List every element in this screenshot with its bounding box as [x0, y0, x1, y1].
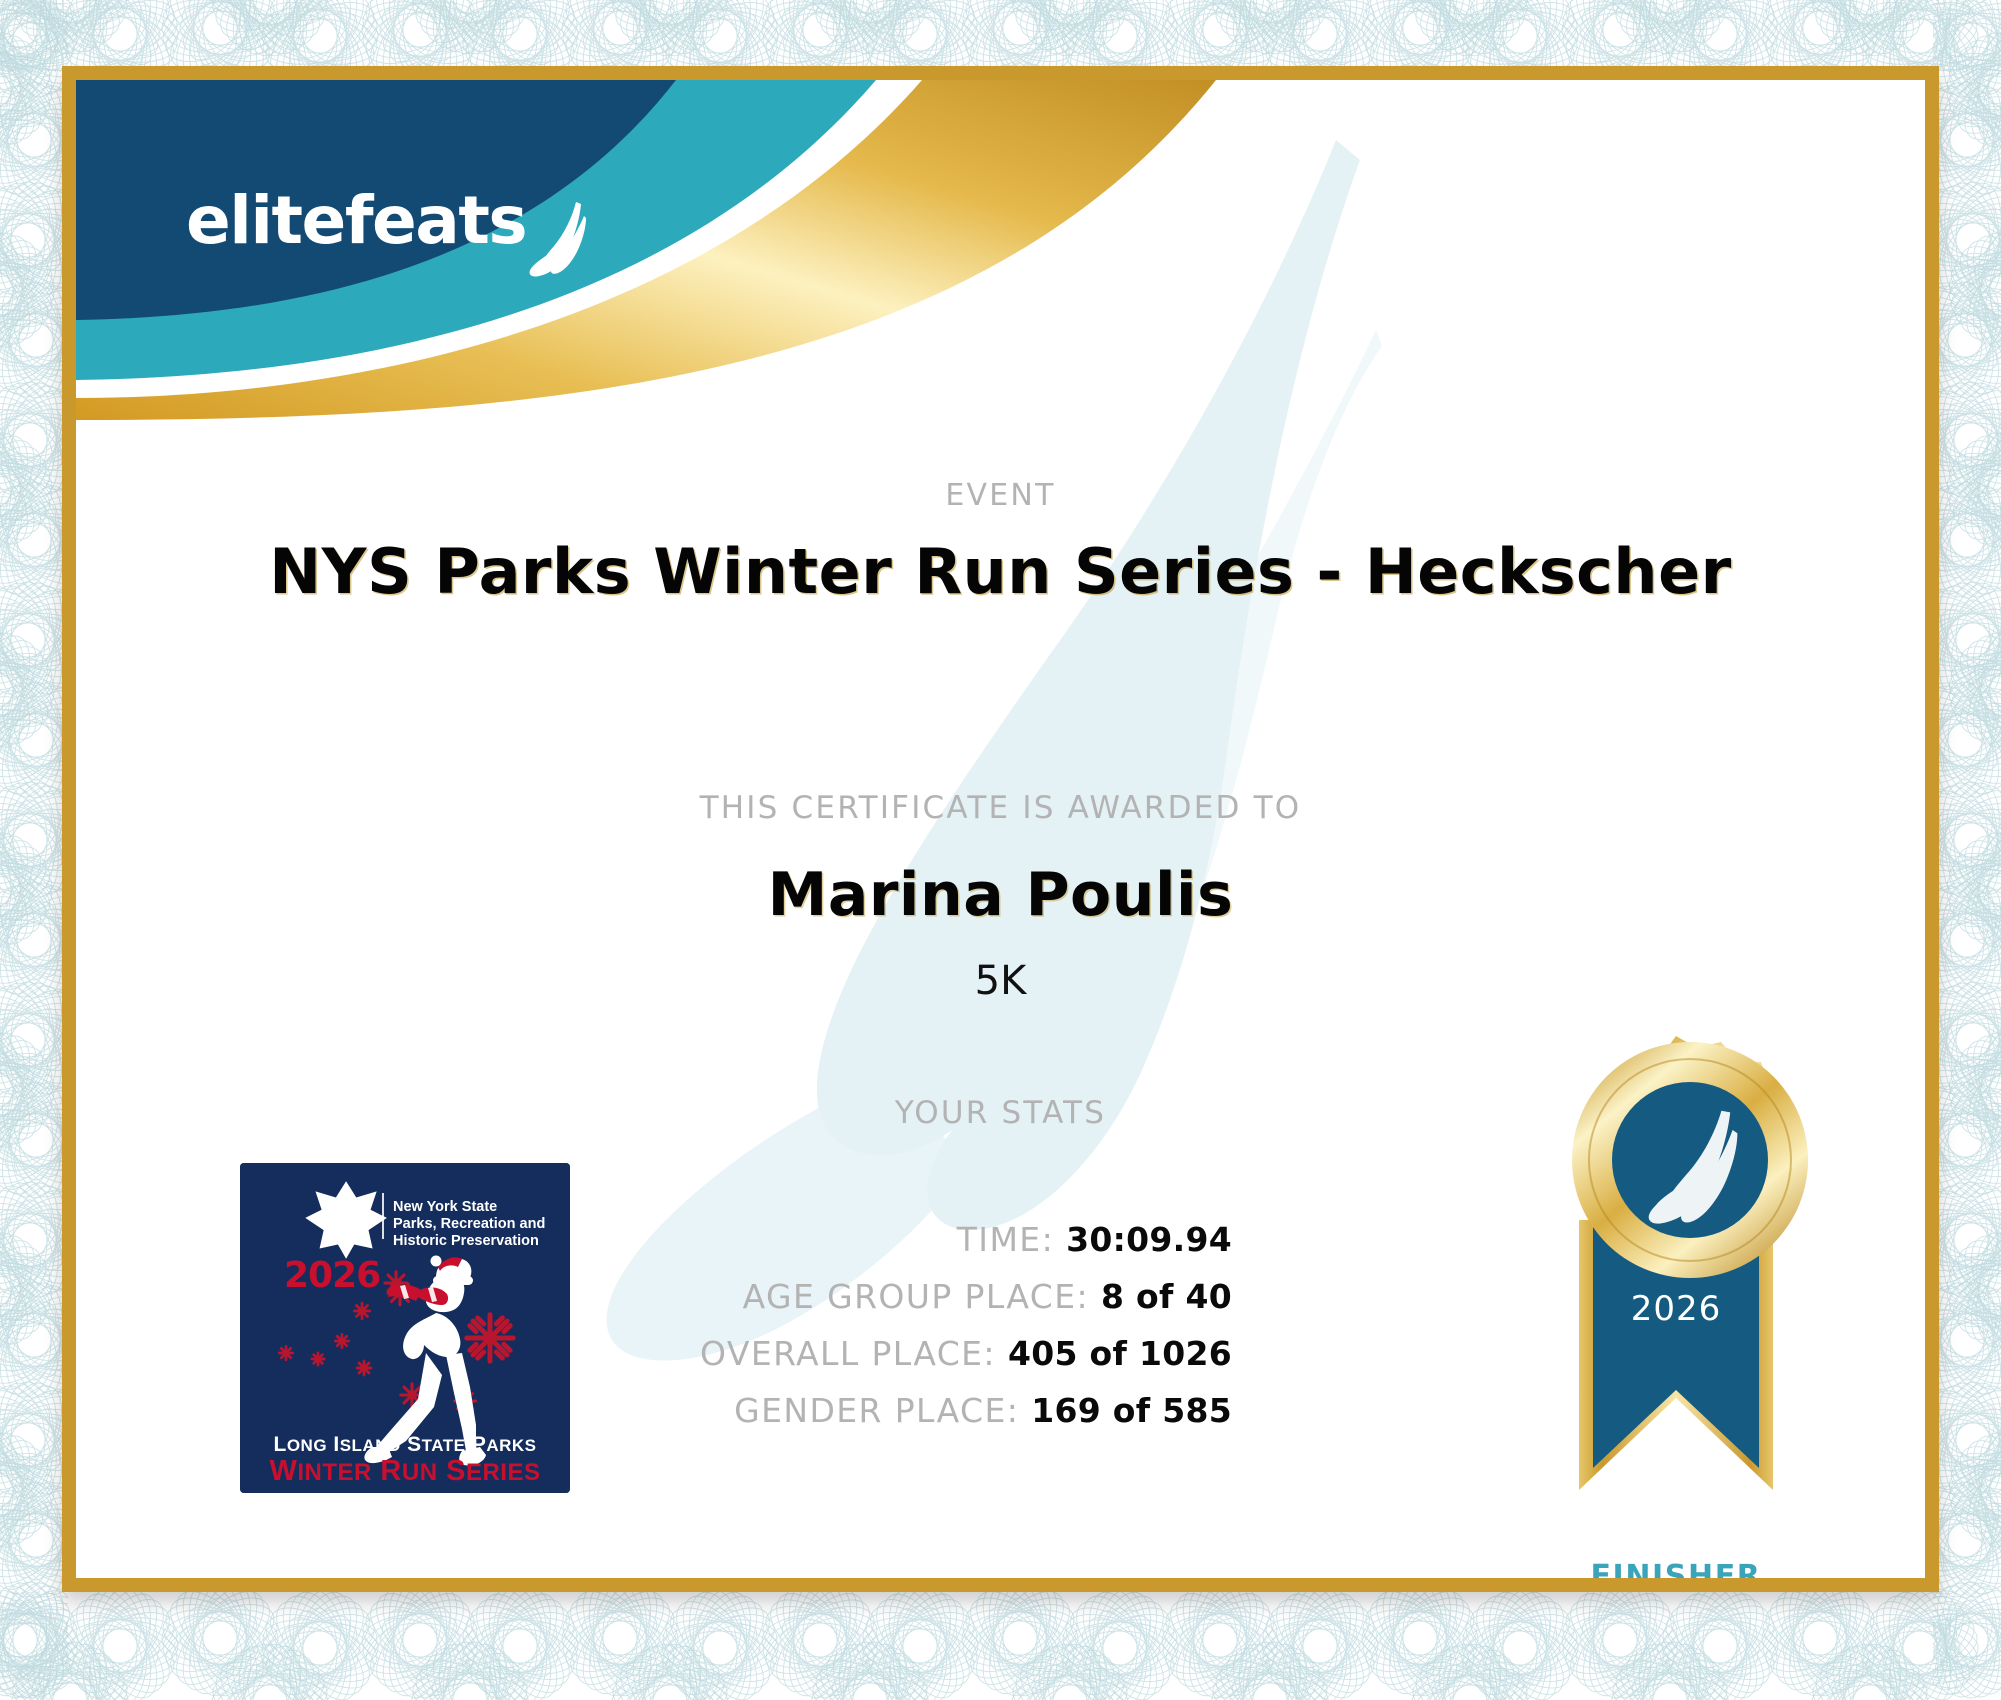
svg-text:2026: 2026 [284, 1255, 380, 1296]
stat-key: OVERALL PLACE: [700, 1334, 996, 1373]
finisher-caption: FINISHER CERTIFICATE [1511, 1560, 1841, 1578]
event-logo: New York State Parks, Recreation and His… [240, 1163, 570, 1493]
stat-key: GENDER PLACE: [734, 1391, 1019, 1430]
stat-value: 8 of 40 [1101, 1277, 1232, 1316]
stat-value: 30:09.94 [1066, 1220, 1232, 1259]
brand-wordmark: elitefeats [186, 188, 526, 254]
svg-text:WINTER RUN SERIES: WINTER RUN SERIES [270, 1455, 541, 1487]
svg-text:Historic Preservation: Historic Preservation [393, 1233, 539, 1249]
stat-key: TIME: [957, 1220, 1054, 1259]
stat-value: 405 of 1026 [1008, 1334, 1232, 1373]
certificate-page: elitefeats EVENT NYS Parks Winter Run Se… [0, 0, 2001, 1700]
svg-text:New York State: New York State [393, 1199, 497, 1215]
svg-text:LONG ISLAND STATE PARKS: LONG ISLAND STATE PARKS [273, 1433, 536, 1456]
race-distance: 5K [76, 958, 1925, 1004]
event-title: NYS Parks Winter Run Series - Heckscher [76, 535, 1925, 608]
event-label: EVENT [76, 478, 1925, 513]
finisher-medal-seal: 2026 [1511, 1020, 1841, 1560]
awarded-to-label: THIS CERTIFICATE IS AWARDED TO [76, 790, 1925, 826]
svg-text:Parks, Recreation and: Parks, Recreation and [393, 1216, 545, 1232]
elitefeats-logo: elitefeats [186, 188, 590, 254]
stat-key: AGE GROUP PLACE: [743, 1277, 1089, 1316]
gold-rosette-seal-icon [1572, 1036, 1808, 1278]
certificate-inner: elitefeats EVENT NYS Parks Winter Run Se… [76, 80, 1925, 1578]
certificate-frame: elitefeats EVENT NYS Parks Winter Run Se… [62, 66, 1939, 1592]
winged-foot-icon [528, 200, 590, 278]
ribbon-year: 2026 [1631, 1289, 1722, 1329]
finisher-caption-line1: FINISHER [1511, 1560, 1841, 1578]
stat-value: 169 of 585 [1031, 1391, 1232, 1430]
recipient-name: Marina Poulis [76, 860, 1925, 930]
